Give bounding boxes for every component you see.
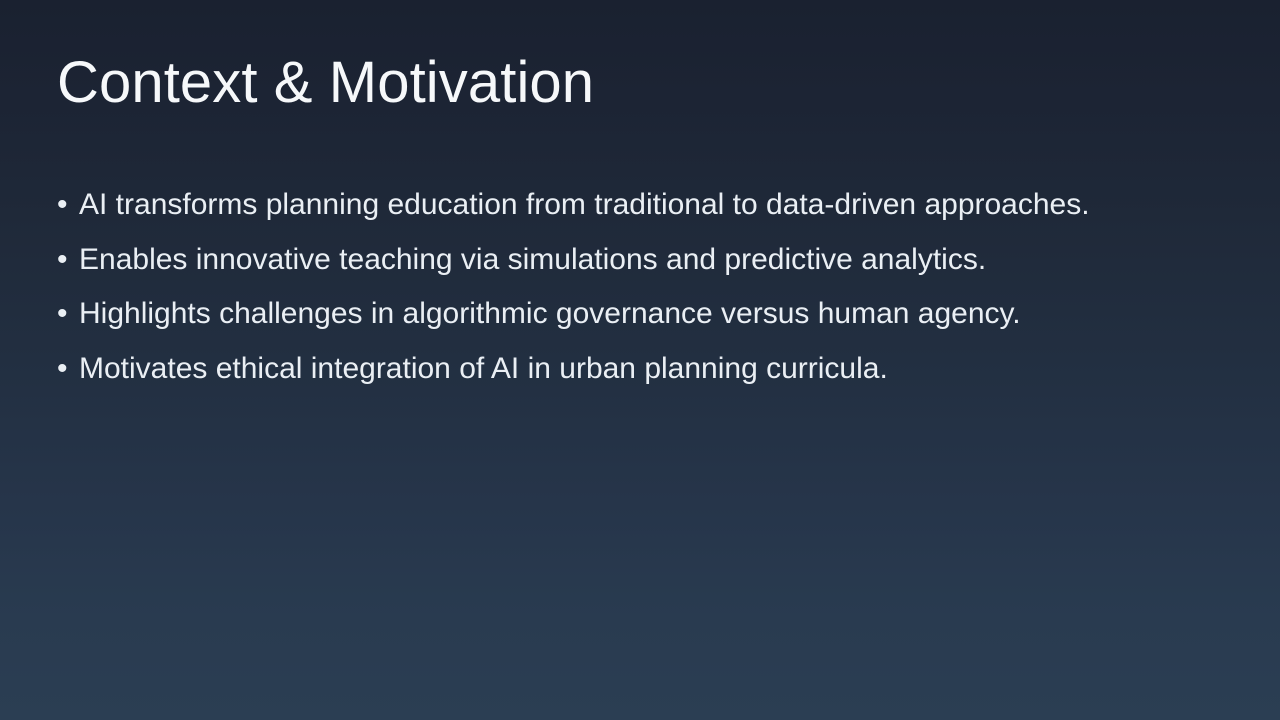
bullet-text-1: AI transforms planning education from tr… bbox=[79, 186, 1090, 224]
bullet-item-1: • AI transforms planning education from … bbox=[57, 186, 1227, 241]
bullet-item-4: • Motivates ethical integration of AI in… bbox=[57, 350, 1227, 405]
bullet-text-4: Motivates ethical integration of AI in u… bbox=[79, 350, 888, 388]
bullet-text-2: Enables innovative teaching via simulati… bbox=[79, 241, 986, 279]
bullet-dot-icon: • bbox=[57, 350, 79, 388]
bullet-list: • AI transforms planning education from … bbox=[57, 186, 1227, 404]
slide-title: Context & Motivation bbox=[57, 52, 1217, 113]
bullet-dot-icon: • bbox=[57, 241, 79, 279]
bullet-dot-icon: • bbox=[57, 186, 79, 224]
bullet-text-3: Highlights challenges in algorithmic gov… bbox=[79, 295, 1021, 333]
bullet-item-3: • Highlights challenges in algorithmic g… bbox=[57, 295, 1227, 350]
bullet-item-2: • Enables innovative teaching via simula… bbox=[57, 241, 1227, 296]
presentation-slide: Context & Motivation • AI transforms pla… bbox=[0, 0, 1280, 720]
bullet-dot-icon: • bbox=[57, 295, 79, 333]
